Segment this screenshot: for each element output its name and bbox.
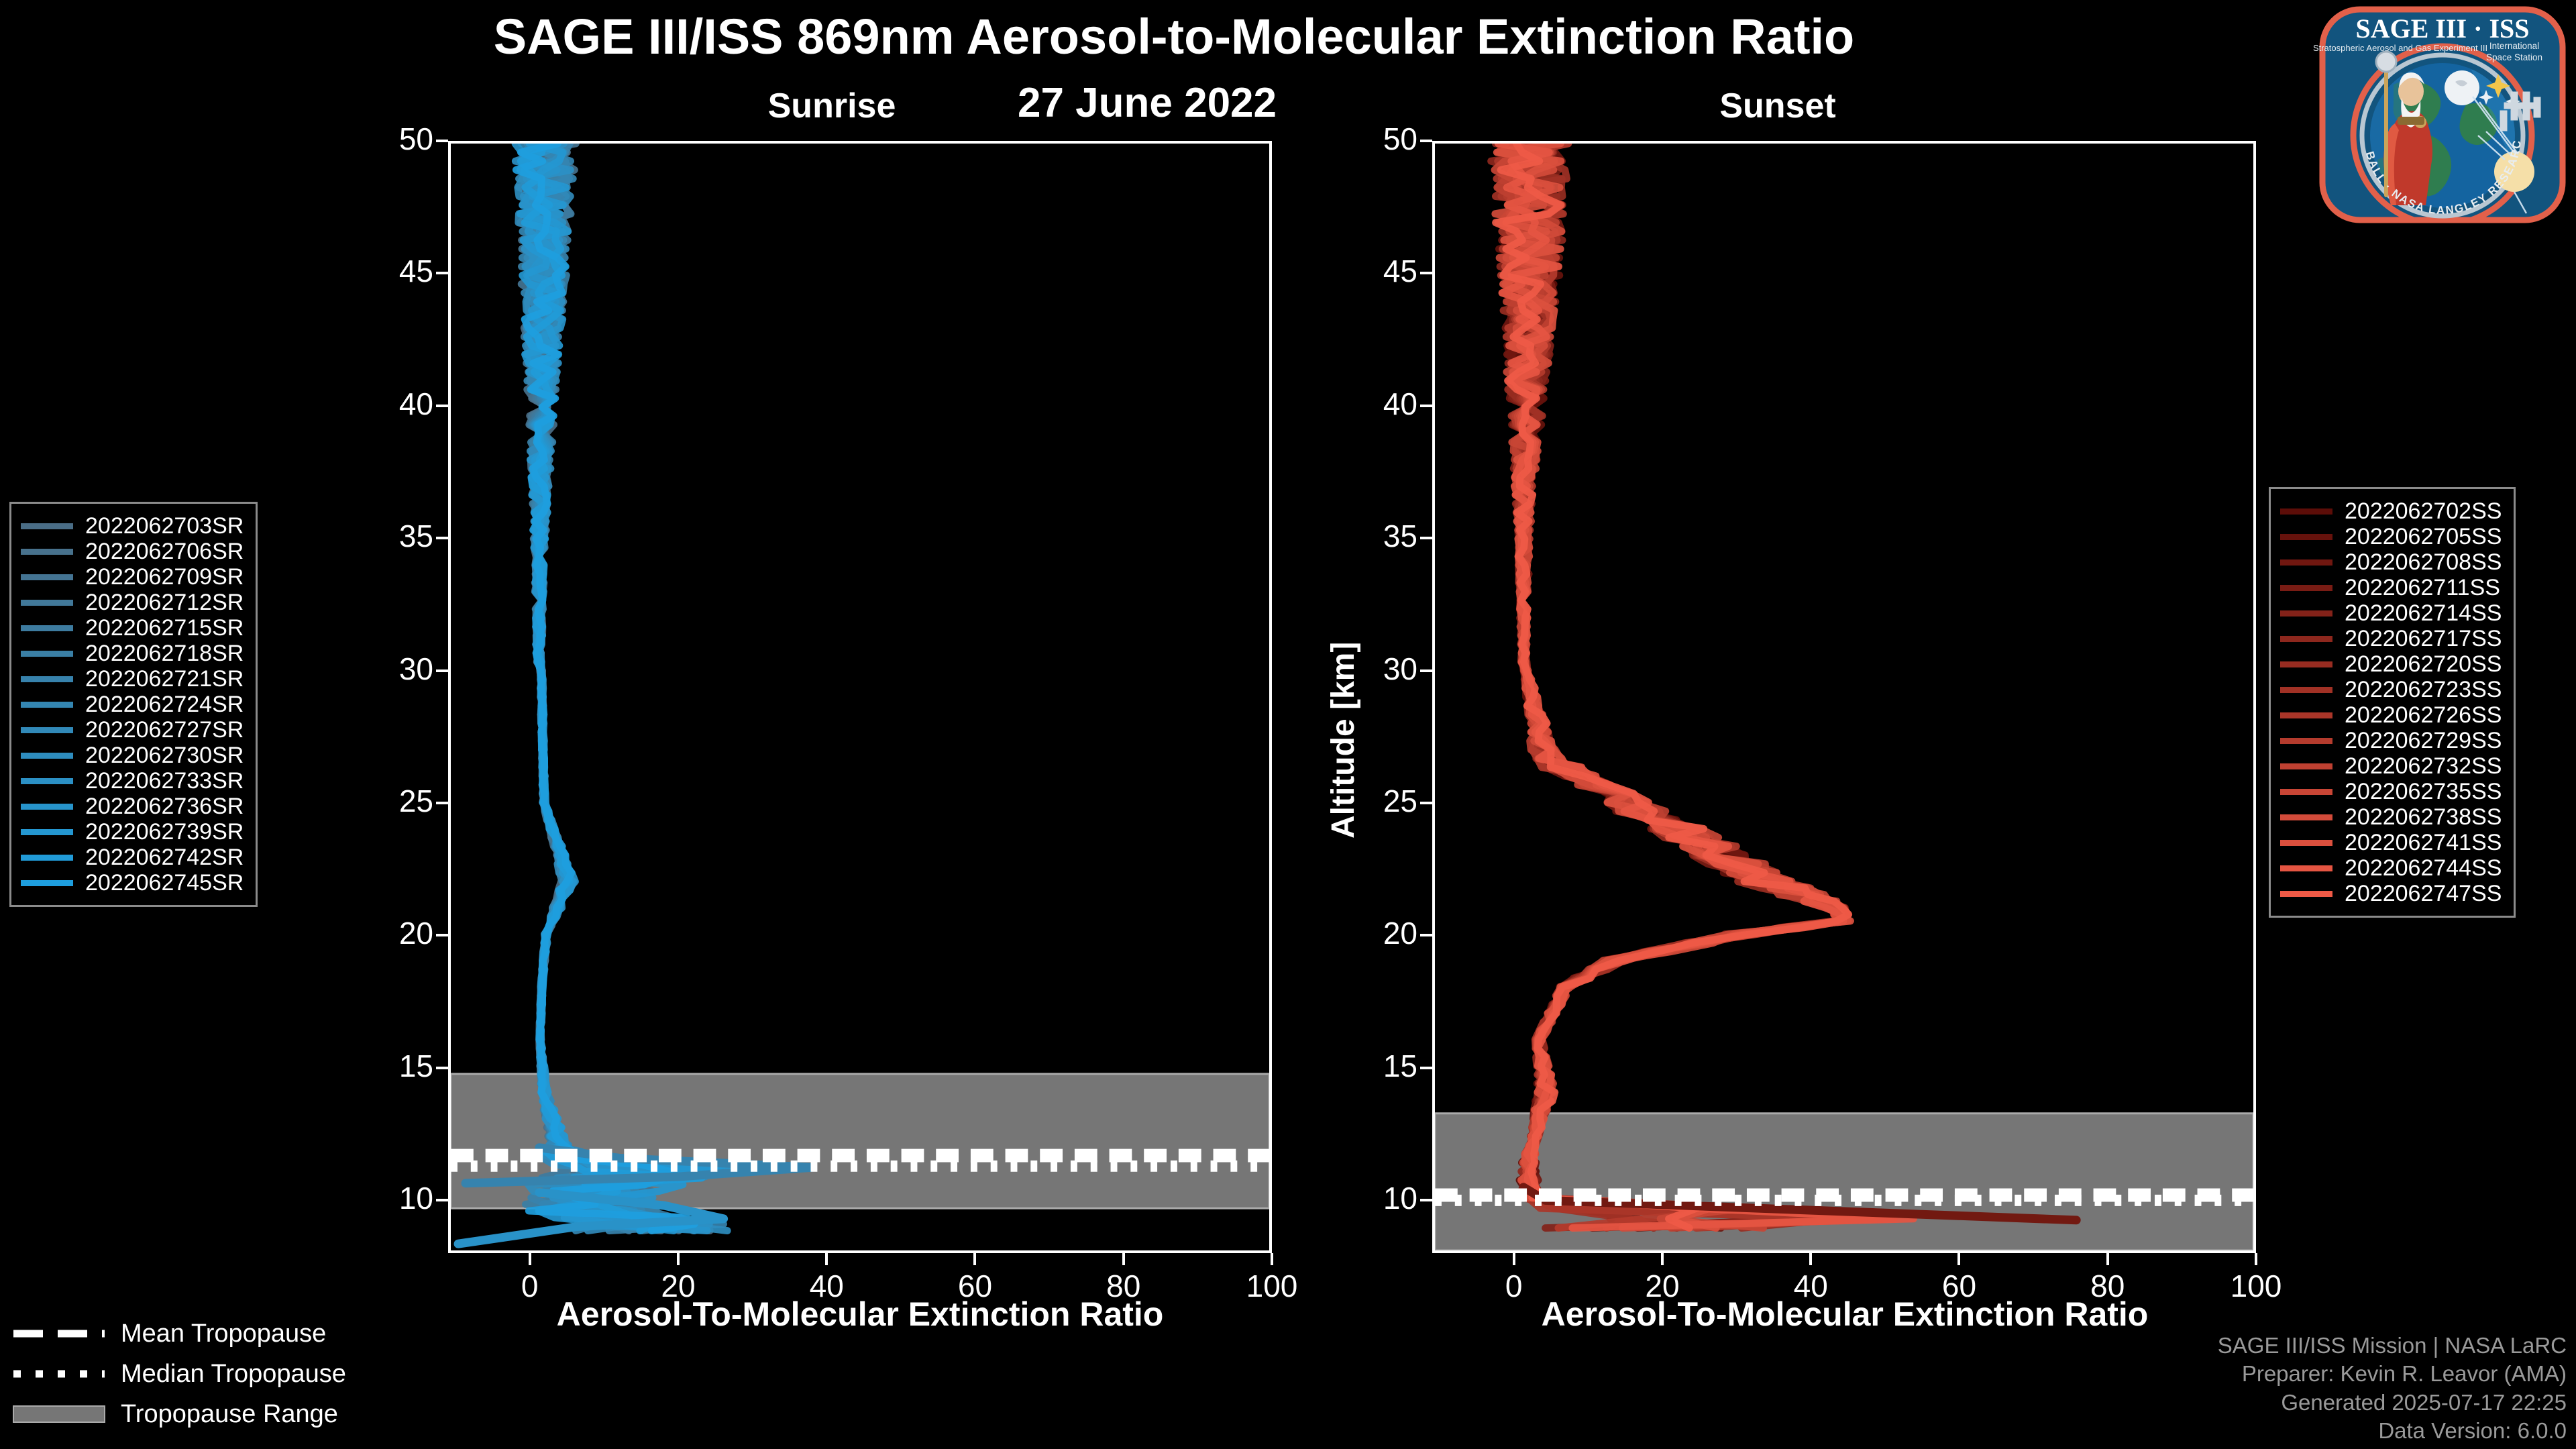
legend-item-event[interactable]: 2022062714SS bbox=[2280, 600, 2502, 626]
legend-color-swatch bbox=[21, 651, 73, 657]
y-tick-label: 15 bbox=[333, 1048, 433, 1084]
legend-color-swatch bbox=[2280, 712, 2332, 718]
legend-color-swatch bbox=[21, 600, 73, 606]
legend-label-tropopause-range: Tropopause Range bbox=[121, 1400, 338, 1429]
legend-color-swatch bbox=[21, 855, 73, 861]
legend-color-swatch bbox=[21, 549, 73, 555]
legend-item-event[interactable]: 2022062741SS bbox=[2280, 830, 2502, 855]
y-tick-mark bbox=[436, 669, 448, 672]
x-tick-label: 80 bbox=[1070, 1268, 1177, 1304]
legend-tropopause: Mean Tropopause Median Tropopause Tropop… bbox=[12, 1313, 346, 1434]
tropopause-range-swatch-icon bbox=[12, 1405, 106, 1423]
x-tick-mark bbox=[1122, 1253, 1125, 1265]
legend-item-event[interactable]: 2022062747SS bbox=[2280, 881, 2502, 906]
legend-color-swatch bbox=[2280, 789, 2332, 795]
credits-block: SAGE III/ISS Mission | NASA LaRC Prepare… bbox=[2218, 1332, 2567, 1445]
legend-event-label: 2022062744SS bbox=[2345, 855, 2502, 881]
y-tick-label: 10 bbox=[333, 1180, 433, 1216]
legend-item-event[interactable]: 2022062723SS bbox=[2280, 677, 2502, 702]
y-tick-label: 30 bbox=[1317, 651, 1417, 687]
y-tick-label: 45 bbox=[1317, 253, 1417, 289]
legend-sunrise-events[interactable]: 2022062703SR2022062706SR2022062709SR2022… bbox=[9, 502, 258, 907]
legend-event-label: 2022062733SR bbox=[85, 768, 244, 794]
mean-tropopause-dash-icon bbox=[12, 1325, 106, 1342]
legend-event-label: 2022062729SS bbox=[2345, 728, 2502, 754]
legend-color-swatch bbox=[21, 574, 73, 580]
legend-item-median-tropopause: Median Tropopause bbox=[12, 1354, 346, 1394]
legend-color-swatch bbox=[2280, 814, 2332, 820]
y-tick-mark bbox=[1420, 934, 1432, 936]
y-tick-label: 15 bbox=[1317, 1048, 1417, 1084]
y-tick-label: 40 bbox=[1317, 386, 1417, 422]
legend-event-label: 2022062724SR bbox=[85, 692, 244, 718]
y-tick-label: 30 bbox=[333, 651, 433, 687]
x-tick-label: 0 bbox=[476, 1268, 584, 1304]
sunset-profile-plot bbox=[1435, 144, 2253, 1250]
legend-item-event[interactable]: 2022062736SR bbox=[21, 794, 244, 819]
legend-color-swatch bbox=[21, 625, 73, 631]
legend-event-label: 2022062745SR bbox=[85, 870, 244, 896]
panel-label-sunset: Sunset bbox=[1623, 86, 1932, 126]
credits-line-preparer: Preparer: Kevin R. Leavor (AMA) bbox=[2218, 1360, 2567, 1388]
legend-event-label: 2022062715SR bbox=[85, 615, 244, 641]
legend-item-event[interactable]: 2022062721SR bbox=[21, 666, 244, 692]
legend-event-label: 2022062736SR bbox=[85, 794, 244, 820]
legend-color-swatch bbox=[21, 676, 73, 682]
y-tick-label: 50 bbox=[333, 121, 433, 157]
legend-color-swatch bbox=[2280, 687, 2332, 693]
legend-event-label: 2022062739SR bbox=[85, 819, 244, 845]
legend-color-swatch bbox=[2280, 559, 2332, 566]
plot-panel-sunrise bbox=[448, 141, 1272, 1253]
x-tick-mark bbox=[1661, 1253, 1664, 1265]
legend-item-event[interactable]: 2022062702SS bbox=[2280, 498, 2502, 524]
legend-event-label: 2022062714SS bbox=[2345, 600, 2502, 627]
legend-event-label: 2022062747SS bbox=[2345, 881, 2502, 907]
legend-item-event[interactable]: 2022062724SR bbox=[21, 692, 244, 717]
credits-line-generated: Generated 2025-07-17 22:25 bbox=[2218, 1389, 2567, 1417]
x-tick-mark bbox=[1957, 1253, 1960, 1265]
legend-event-label: 2022062711SS bbox=[2345, 575, 2500, 601]
legend-color-swatch bbox=[21, 753, 73, 759]
x-tick-mark bbox=[677, 1253, 680, 1265]
logo-subtitle-left: Stratospheric Aerosol and Gas Experiment… bbox=[2313, 43, 2487, 53]
y-tick-mark bbox=[436, 537, 448, 539]
profile-line bbox=[516, 144, 694, 1231]
legend-item-event[interactable]: 2022062711SS bbox=[2280, 575, 2502, 600]
legend-item-event[interactable]: 2022062717SS bbox=[2280, 626, 2502, 651]
x-tick-mark bbox=[1513, 1253, 1515, 1265]
date-subtitle: 27 June 2022 bbox=[0, 79, 2294, 127]
legend-item-event[interactable]: 2022062735SS bbox=[2280, 779, 2502, 804]
logo-subtitle-right-line1: International bbox=[2489, 41, 2539, 51]
x-tick-label: 100 bbox=[2202, 1268, 2310, 1304]
y-tick-label: 20 bbox=[333, 915, 433, 951]
x-tick-mark bbox=[529, 1253, 531, 1265]
profile-line bbox=[1503, 144, 1848, 1228]
profile-line bbox=[1506, 144, 1846, 1228]
legend-color-swatch bbox=[2280, 534, 2332, 540]
x-tick-label: 40 bbox=[1757, 1268, 1864, 1304]
legend-item-event[interactable]: 2022062744SS bbox=[2280, 855, 2502, 881]
legend-color-swatch bbox=[2280, 636, 2332, 642]
legend-item-event[interactable]: 2022062706SR bbox=[21, 539, 244, 564]
legend-item-event[interactable]: 2022062709SR bbox=[21, 564, 244, 590]
x-tick-label: 20 bbox=[1609, 1268, 1716, 1304]
y-tick-label: 35 bbox=[333, 518, 433, 554]
legend-color-swatch bbox=[2280, 865, 2332, 871]
y-tick-label: 25 bbox=[1317, 783, 1417, 819]
legend-color-swatch bbox=[21, 804, 73, 810]
y-tick-mark bbox=[1420, 405, 1432, 407]
legend-color-swatch bbox=[21, 727, 73, 733]
x-tick-label: 20 bbox=[625, 1268, 732, 1304]
legend-label-mean-tropopause: Mean Tropopause bbox=[121, 1320, 326, 1348]
legend-event-label: 2022062718SR bbox=[85, 641, 244, 667]
y-tick-mark bbox=[1420, 802, 1432, 804]
legend-item-event[interactable]: 2022062730SR bbox=[21, 743, 244, 768]
x-tick-label: 80 bbox=[2054, 1268, 2161, 1304]
legend-event-label: 2022062726SS bbox=[2345, 702, 2502, 729]
legend-event-label: 2022062706SR bbox=[85, 539, 244, 565]
x-tick-label: 60 bbox=[1905, 1268, 2012, 1304]
sunrise-profile-plot bbox=[451, 144, 1269, 1250]
y-tick-mark bbox=[1420, 272, 1432, 274]
credits-line-version: Data Version: 6.0.0 bbox=[2218, 1417, 2567, 1445]
legend-event-label: 2022062708SS bbox=[2345, 549, 2502, 576]
legend-event-label: 2022062709SR bbox=[85, 564, 244, 590]
legend-color-swatch bbox=[2280, 891, 2332, 897]
legend-item-event[interactable]: 2022062739SR bbox=[21, 819, 244, 845]
y-tick-mark bbox=[436, 140, 448, 142]
y-tick-mark bbox=[436, 1067, 448, 1069]
logo-title: SAGE III · ISS bbox=[2355, 13, 2529, 44]
y-tick-mark bbox=[436, 272, 448, 274]
legend-item-event[interactable]: 2022062745SR bbox=[21, 870, 244, 896]
x-tick-label: 0 bbox=[1460, 1268, 1568, 1304]
y-tick-mark bbox=[436, 405, 448, 407]
legend-color-swatch bbox=[21, 829, 73, 835]
x-tick-mark bbox=[2106, 1253, 2109, 1265]
legend-color-swatch bbox=[21, 778, 73, 784]
legend-item-tropopause-range: Tropopause Range bbox=[12, 1394, 346, 1434]
legend-event-label: 2022062702SS bbox=[2345, 498, 2502, 525]
legend-event-label: 2022062732SS bbox=[2345, 753, 2502, 780]
y-tick-label: 25 bbox=[333, 783, 433, 819]
x-tick-label: 40 bbox=[773, 1268, 880, 1304]
legend-item-event[interactable]: 2022062738SS bbox=[2280, 804, 2502, 830]
y-tick-mark bbox=[436, 802, 448, 804]
sage-iii-iss-logo-icon: BALL · NASA LANGLEY RESEARCH CENTER · TA… bbox=[2313, 4, 2572, 225]
logo-subtitle-right-line2: Space Station bbox=[2486, 52, 2542, 62]
profile-line bbox=[1498, 144, 1913, 1228]
legend-color-swatch bbox=[2280, 738, 2332, 744]
legend-color-swatch bbox=[2280, 610, 2332, 616]
legend-event-label: 2022062720SS bbox=[2345, 651, 2502, 678]
y-tick-label: 10 bbox=[1317, 1180, 1417, 1216]
legend-event-label: 2022062703SR bbox=[85, 513, 244, 539]
legend-item-event[interactable]: 2022062712SR bbox=[21, 590, 244, 615]
page-title: SAGE III/ISS 869nm Aerosol-to-Molecular … bbox=[0, 12, 2348, 62]
legend-label-median-tropopause: Median Tropopause bbox=[121, 1360, 346, 1389]
legend-color-swatch bbox=[2280, 840, 2332, 846]
legend-color-swatch bbox=[21, 880, 73, 886]
legend-color-swatch bbox=[2280, 763, 2332, 769]
x-tick-mark bbox=[1271, 1253, 1273, 1265]
legend-sunset-events[interactable]: 2022062702SS2022062705SS2022062708SS2022… bbox=[2269, 487, 2516, 918]
legend-event-label: 2022062727SR bbox=[85, 717, 244, 743]
legend-item-event[interactable]: 2022062718SR bbox=[21, 641, 244, 666]
legend-event-label: 2022062741SS bbox=[2345, 830, 2502, 856]
plot-panel-sunset bbox=[1432, 141, 2256, 1253]
legend-event-label: 2022062735SS bbox=[2345, 779, 2502, 805]
legend-color-swatch bbox=[21, 702, 73, 708]
profile-line bbox=[1497, 144, 1850, 1228]
legend-item-event[interactable]: 2022062720SS bbox=[2280, 651, 2502, 677]
legend-item-event[interactable]: 2022062729SS bbox=[2280, 728, 2502, 753]
legend-item-event[interactable]: 2022062727SR bbox=[21, 717, 244, 743]
legend-event-label: 2022062742SR bbox=[85, 845, 244, 871]
x-tick-mark bbox=[2255, 1253, 2257, 1265]
legend-item-event[interactable]: 2022062708SS bbox=[2280, 549, 2502, 575]
y-tick-label: 35 bbox=[1317, 518, 1417, 554]
legend-event-label: 2022062717SS bbox=[2345, 626, 2502, 652]
legend-event-label: 2022062723SS bbox=[2345, 677, 2502, 703]
panel-label-sunrise: Sunrise bbox=[678, 86, 986, 126]
legend-color-swatch bbox=[2280, 508, 2332, 515]
y-tick-mark bbox=[1420, 1067, 1432, 1069]
legend-color-swatch bbox=[21, 523, 73, 529]
legend-item-event[interactable]: 2022062732SS bbox=[2280, 753, 2502, 779]
legend-color-swatch bbox=[2280, 661, 2332, 667]
legend-event-label: 2022062705SS bbox=[2345, 524, 2502, 550]
y-tick-label: 45 bbox=[333, 253, 433, 289]
y-tick-mark bbox=[1420, 1199, 1432, 1201]
legend-item-event[interactable]: 2022062715SR bbox=[21, 615, 244, 641]
legend-event-label: 2022062730SR bbox=[85, 743, 244, 769]
legend-event-label: 2022062738SS bbox=[2345, 804, 2502, 830]
y-tick-mark bbox=[1420, 669, 1432, 672]
x-tick-mark bbox=[973, 1253, 976, 1265]
legend-color-swatch bbox=[2280, 585, 2332, 591]
y-tick-mark bbox=[436, 934, 448, 936]
y-tick-label: 40 bbox=[333, 386, 433, 422]
x-tick-label: 100 bbox=[1218, 1268, 1326, 1304]
credits-line-mission: SAGE III/ISS Mission | NASA LaRC bbox=[2218, 1332, 2567, 1360]
legend-item-mean-tropopause: Mean Tropopause bbox=[12, 1313, 346, 1354]
median-tropopause-dot-icon bbox=[12, 1365, 106, 1383]
legend-item-event[interactable]: 2022062726SS bbox=[2280, 702, 2502, 728]
y-tick-label: 20 bbox=[1317, 915, 1417, 951]
y-tick-mark bbox=[436, 1199, 448, 1201]
legend-item-event[interactable]: 2022062703SR bbox=[21, 513, 244, 539]
legend-event-label: 2022062712SR bbox=[85, 590, 244, 616]
legend-item-event[interactable]: 2022062742SR bbox=[21, 845, 244, 870]
y-tick-mark bbox=[1420, 140, 1432, 142]
legend-item-event[interactable]: 2022062733SR bbox=[21, 768, 244, 794]
x-tick-mark bbox=[825, 1253, 828, 1265]
x-tick-mark bbox=[1809, 1253, 1812, 1265]
y-tick-mark bbox=[1420, 537, 1432, 539]
y-tick-label: 50 bbox=[1317, 121, 1417, 157]
legend-item-event[interactable]: 2022062705SS bbox=[2280, 524, 2502, 549]
legend-event-label: 2022062721SR bbox=[85, 666, 244, 692]
x-tick-label: 60 bbox=[921, 1268, 1028, 1304]
profile-line bbox=[1495, 144, 1894, 1228]
